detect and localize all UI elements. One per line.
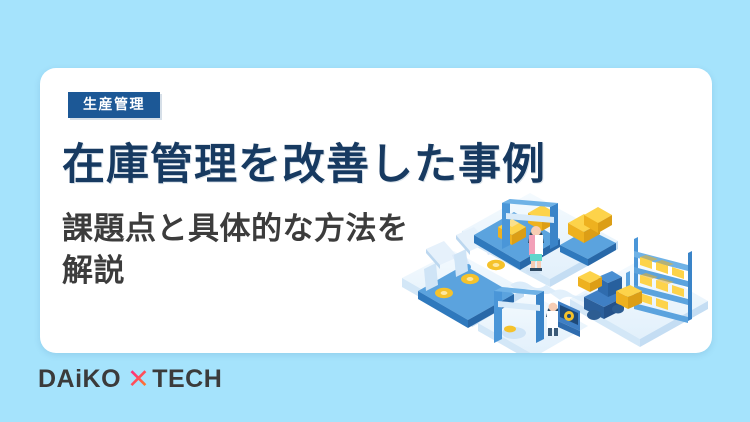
logo-x-mark-icon: ✕ bbox=[127, 366, 150, 393]
platform-warehouse bbox=[570, 261, 708, 347]
category-badge: 生産管理 bbox=[68, 92, 160, 118]
output-conveyor bbox=[560, 229, 616, 266]
control-panel-gear-screen bbox=[558, 301, 580, 337]
box-stack-right bbox=[568, 207, 612, 243]
page-subtitle-line-2: 解説 bbox=[62, 250, 532, 292]
pallet-boxes-left bbox=[578, 271, 602, 292]
box-center-2 bbox=[528, 205, 556, 231]
worker-inspector bbox=[546, 303, 560, 336]
page-subtitle: 課題点と具体的な方法を 解説 bbox=[62, 208, 532, 291]
storage-rack bbox=[634, 237, 692, 323]
forklift bbox=[584, 271, 642, 320]
page-title: 在庫管理を改善した事例 bbox=[62, 142, 546, 188]
brand-logo: DAiKO ✕ TECH bbox=[38, 366, 222, 393]
slide-canvas: 生産管理 在庫管理を改善した事例 課題点と具体的な方法を 解説 bbox=[0, 0, 750, 422]
logo-text-daiko: DAiKO bbox=[38, 367, 121, 392]
content-card: 生産管理 在庫管理を改善した事例 課題点と具体的な方法を 解説 bbox=[40, 68, 712, 353]
platform-inspection bbox=[478, 293, 588, 353]
logo-text-tech: TECH bbox=[152, 367, 222, 392]
page-subtitle-line-1: 課題点と具体的な方法を bbox=[62, 208, 532, 250]
category-badge-wrapper: 生産管理 bbox=[68, 92, 160, 118]
inspection-gantry bbox=[494, 287, 544, 343]
